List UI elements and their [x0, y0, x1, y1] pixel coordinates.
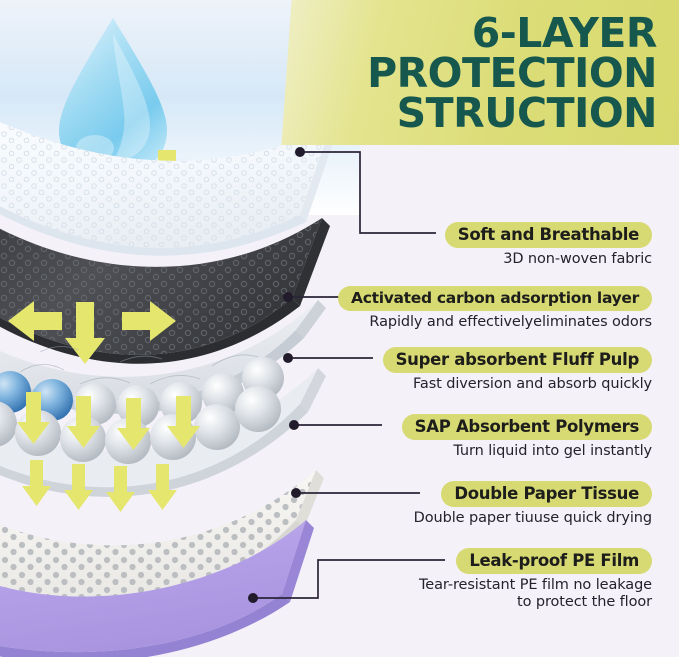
callout-desc-double-paper-tissue: Double paper tiuuse quick drying — [414, 510, 652, 527]
callout-double-paper-tissue[interactable]: Double Paper Tissue Double paper tiuuse … — [414, 481, 652, 527]
callout-desc-soft-breathable: 3D non-woven fabric — [503, 251, 652, 268]
infographic-canvas: 6-LAYER PROTECTION STRUCTION Soft and Br… — [0, 0, 679, 657]
callout-sap-polymers[interactable]: SAP Absorbent Polymers Turn liquid into … — [402, 414, 652, 460]
callout-title-leak-proof-pe-film: Leak-proof PE Film — [456, 548, 652, 574]
callout-desc-sap-polymers: Turn liquid into gel instantly — [453, 443, 652, 460]
callout-soft-breathable[interactable]: Soft and Breathable 3D non-woven fabric — [445, 222, 652, 268]
callout-list: Soft and Breathable 3D non-woven fabric … — [330, 0, 679, 657]
callout-activated-carbon[interactable]: Activated carbon adsorption layer Rapidl… — [338, 286, 652, 331]
callout-desc-fluff-pulp: Fast diversion and absorb quickly — [413, 376, 652, 393]
callout-title-soft-breathable: Soft and Breathable — [445, 222, 652, 248]
callout-fluff-pulp[interactable]: Super absorbent Fluff Pulp Fast diversio… — [383, 347, 652, 393]
callout-desc-leak-proof-pe-film: Tear-resistant PE film no leakage to pro… — [419, 577, 652, 610]
callout-title-sap-polymers: SAP Absorbent Polymers — [402, 414, 652, 440]
callout-title-activated-carbon: Activated carbon adsorption layer — [338, 286, 652, 311]
callout-title-fluff-pulp: Super absorbent Fluff Pulp — [383, 347, 652, 373]
callout-title-double-paper-tissue: Double Paper Tissue — [441, 481, 652, 507]
callout-desc-activated-carbon: Rapidly and effectivelyeliminates odors — [369, 314, 652, 331]
callout-leak-proof-pe-film[interactable]: Leak-proof PE Film Tear-resistant PE fil… — [419, 548, 652, 610]
